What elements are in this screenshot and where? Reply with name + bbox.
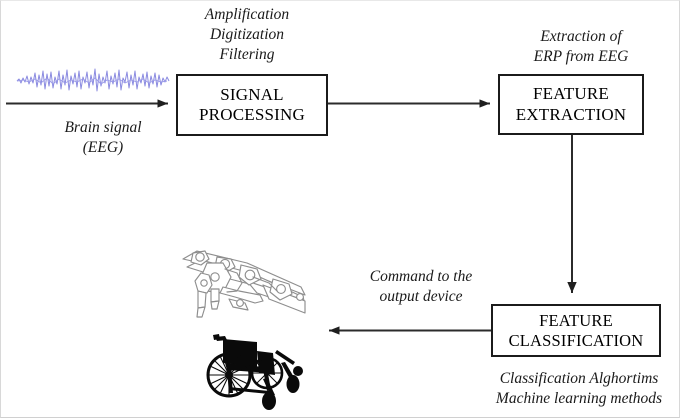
- box-label-line2: CLASSIFICATION: [509, 331, 644, 350]
- annotation-classification-methods: Classification Alghortims Machine learni…: [483, 369, 675, 409]
- box-label-line2: EXTRACTION: [516, 105, 627, 125]
- annotation-line3: Filtering: [183, 45, 311, 65]
- box-label-line2: PROCESSING: [199, 105, 305, 125]
- annotation-line1: Brain signal: [33, 118, 173, 138]
- annotation-line2: ERP from EEG: [511, 47, 651, 67]
- box-label-line1: SIGNAL: [220, 85, 284, 105]
- diagram-canvas: SIGNAL PROCESSING FEATURE EXTRACTION FEA…: [0, 0, 680, 418]
- process-box-feature-classification[interactable]: FEATURE CLASSIFICATION: [491, 304, 661, 357]
- box-label-line1: FEATURE: [533, 84, 609, 104]
- box-label-line1: FEATURE: [539, 311, 613, 330]
- annotation-line2: output device: [345, 287, 497, 307]
- process-box-feature-extraction[interactable]: FEATURE EXTRACTION: [498, 74, 644, 135]
- annotation-amplification: Amplification Digitization Filtering: [183, 5, 311, 65]
- annotation-line2: Machine learning methods: [483, 389, 675, 409]
- annotation-line1: Extraction of: [511, 27, 651, 47]
- wheelchair-icon: [208, 334, 303, 410]
- annotation-line1: Classification Alghortims: [483, 369, 675, 389]
- annotation-extraction: Extraction of ERP from EEG: [511, 27, 651, 67]
- annotation-line1: Amplification: [183, 5, 311, 25]
- annotation-command-to-output-device: Command to the output device: [345, 267, 497, 307]
- robotic-arm-icon: [183, 251, 305, 317]
- eeg-waveform-icon: [17, 69, 169, 91]
- annotation-line2: (EEG): [33, 138, 173, 158]
- annotation-line1: Command to the: [345, 267, 497, 287]
- process-box-signal-processing[interactable]: SIGNAL PROCESSING: [176, 74, 328, 136]
- annotation-line2: Digitization: [183, 25, 311, 45]
- annotation-brain-signal: Brain signal (EEG): [33, 118, 173, 158]
